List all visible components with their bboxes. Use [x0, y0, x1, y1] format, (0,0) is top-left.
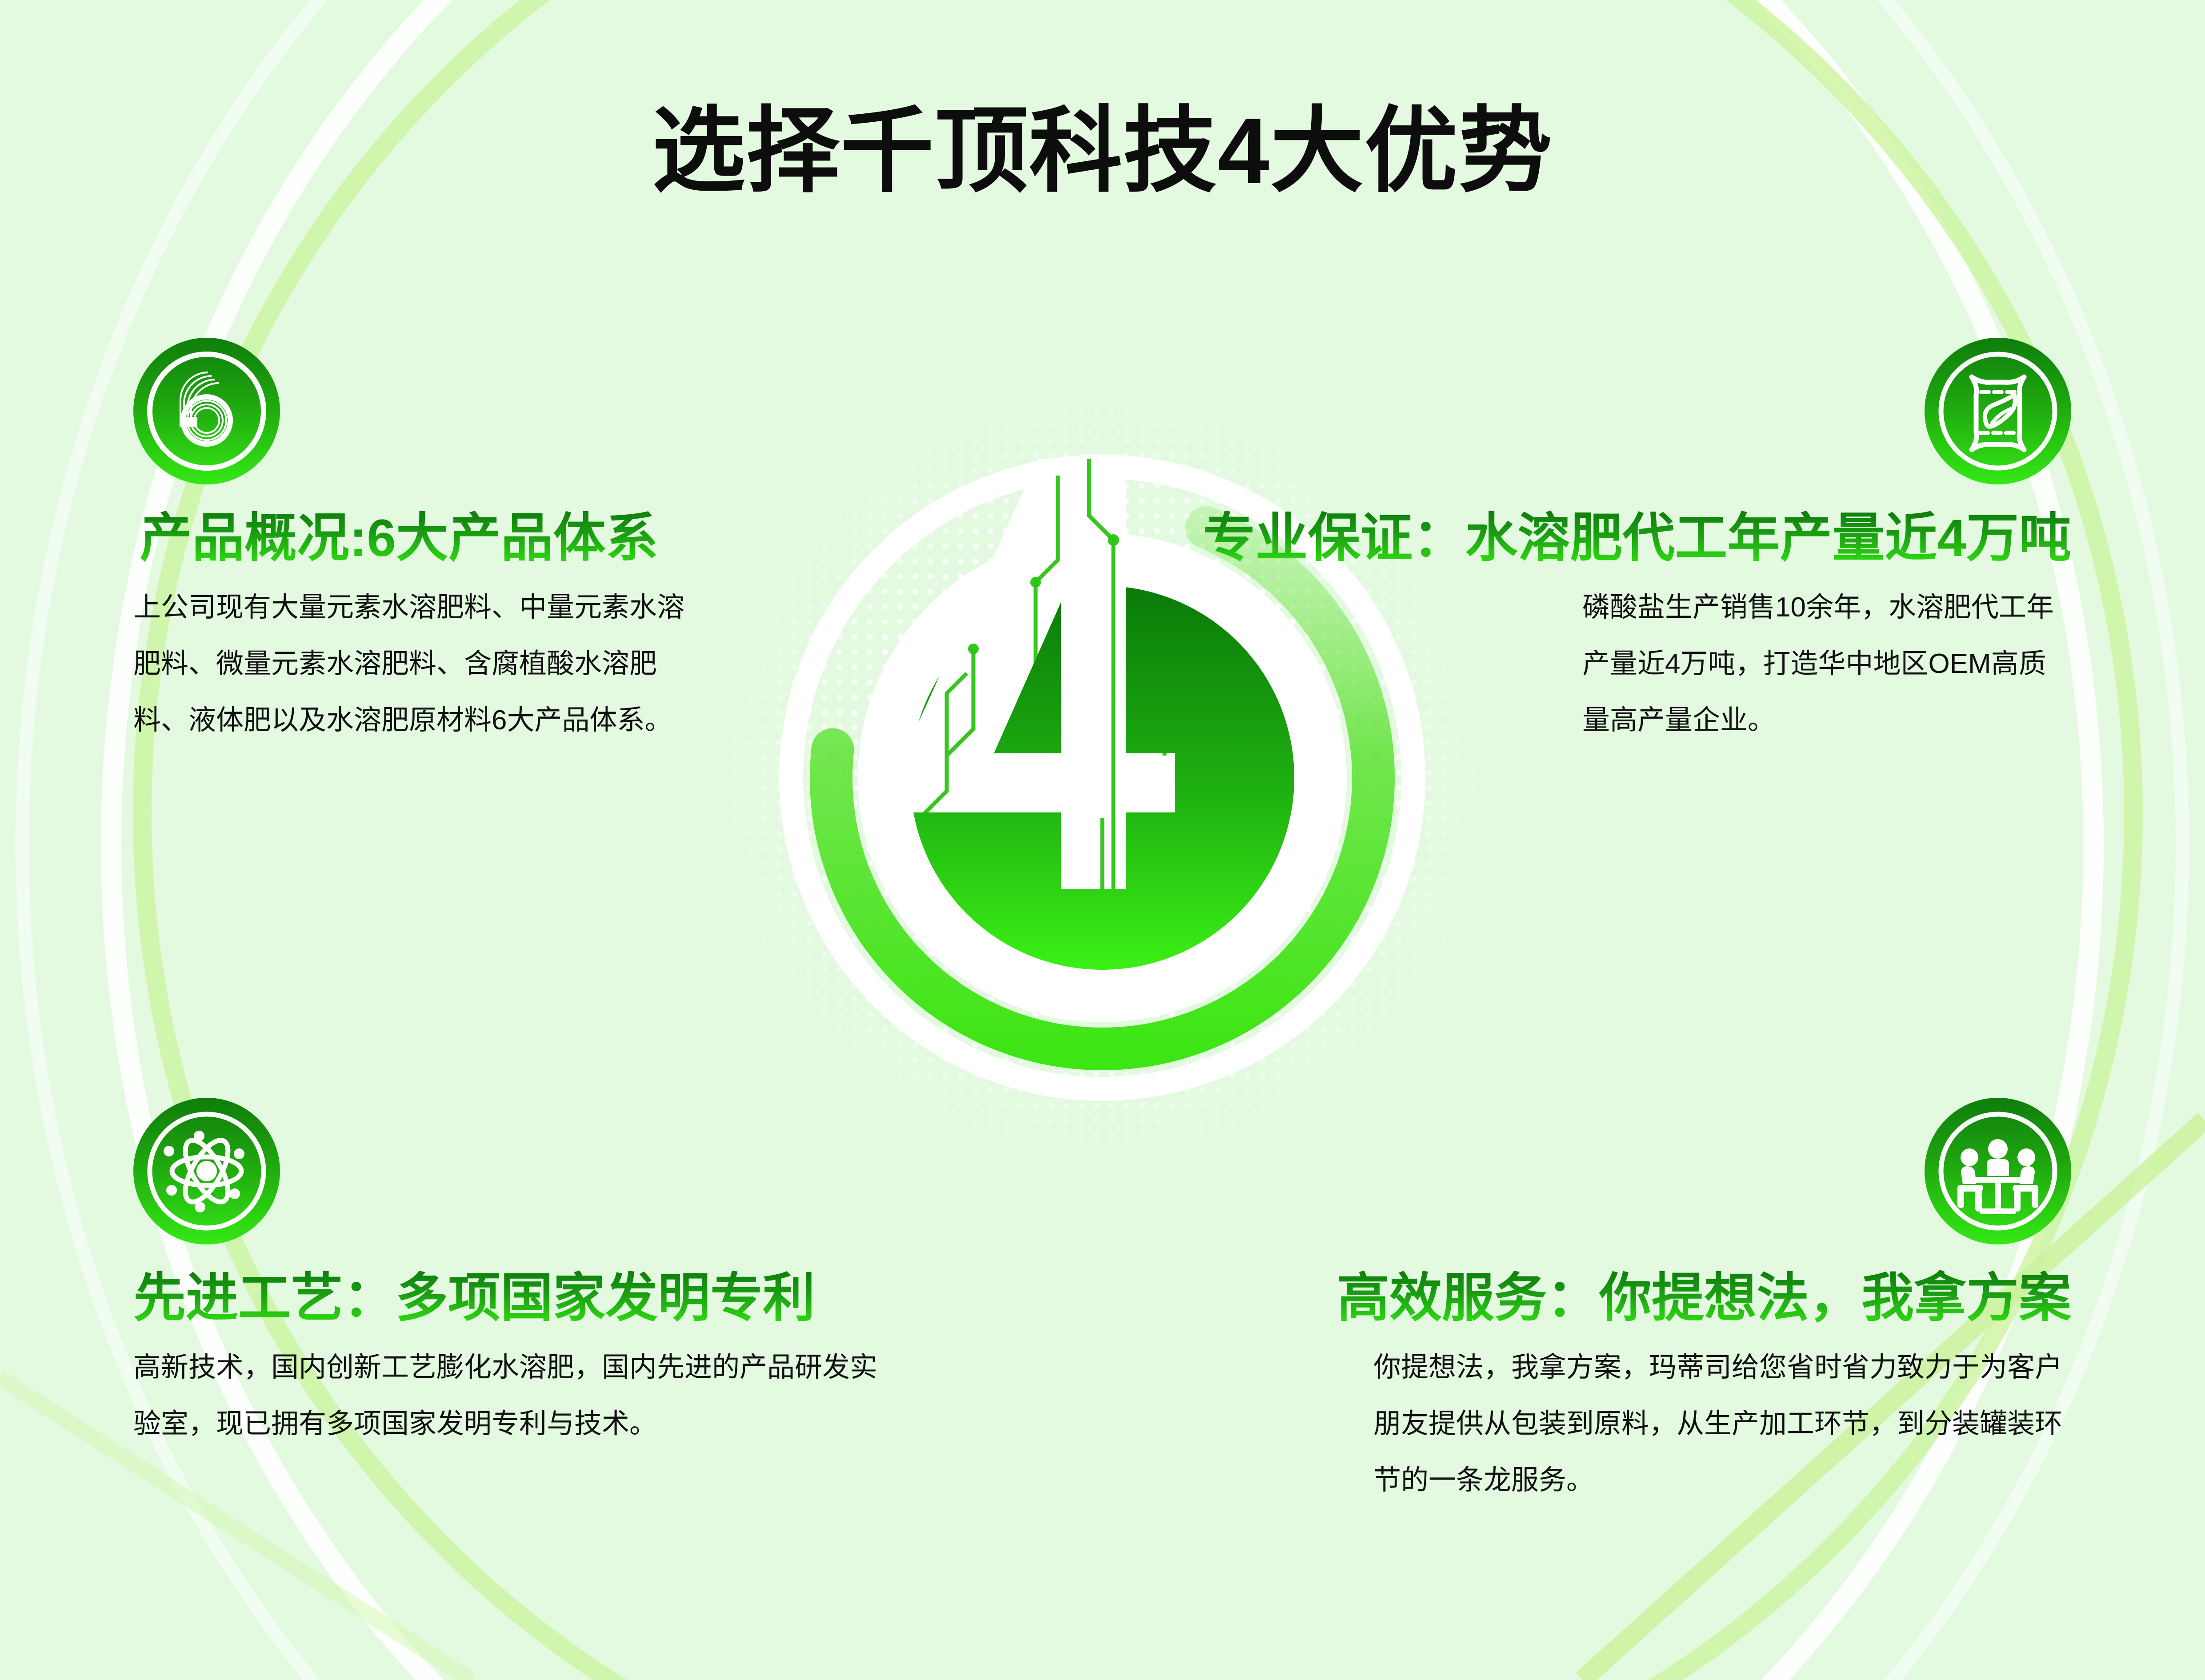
feature-block-bottom-right: 高效服务：你提想法，我拿方案 你提想法，我拿方案，玛蒂司给您省时省力致力于为客户…	[1307, 1098, 2071, 1509]
feature-body-bottom-right: 你提想法，我拿方案，玛蒂司给您省时省力致力于为客户朋友提供从包装到原料，从生产加…	[1373, 1339, 2071, 1508]
feature-heading-top-left: 产品概况:6大产品体系	[140, 508, 711, 569]
feature-heading-bottom-left: 先进工艺：多项国家发明专利	[133, 1268, 907, 1329]
feature-block-bottom-left: 先进工艺：多项国家发明专利 高新技术，国内创新工艺膨化水溶肥，国内先进的产品研发…	[133, 1098, 907, 1452]
feature-body-top-left: 上公司现有大量元素水溶肥料、中量元素水溶肥料、微量元素水溶肥料、含腐植酸水溶肥料…	[133, 579, 684, 748]
feature-heading-top-right: 专业保证：水溶肥代工年产量近4万吨	[1200, 508, 2071, 569]
feature-heading-bottom-right: 高效服务：你提想法，我拿方案	[1307, 1268, 2071, 1329]
six-rings-badge-icon	[133, 338, 280, 484]
page-title: 选择千顶科技4大优势	[0, 102, 2205, 200]
feature-block-top-right: 专业保证：水溶肥代工年产量近4万吨 磷酸盐生产销售10余年，水溶肥代工年产量近4…	[1200, 338, 2071, 749]
feature-body-bottom-left: 高新技术，国内创新工艺膨化水溶肥，国内先进的产品研发实验室，现已拥有多项国家发明…	[133, 1339, 880, 1452]
meeting-people-icon	[1925, 1098, 2071, 1244]
atom-icon	[133, 1098, 280, 1244]
infographic-stage: 选择千顶科技4大优势	[0, 0, 2205, 1680]
feature-block-top-left: 产品概况:6大产品体系 上公司现有大量元素水溶肥料、中量元素水溶肥料、微量元素水…	[133, 338, 711, 749]
fertilizer-bag-icon	[1925, 338, 2071, 484]
feature-body-top-right: 磷酸盐生产销售10余年，水溶肥代工年产量近4万吨，打造华中地区OEM高质量高产量…	[1582, 579, 2071, 748]
